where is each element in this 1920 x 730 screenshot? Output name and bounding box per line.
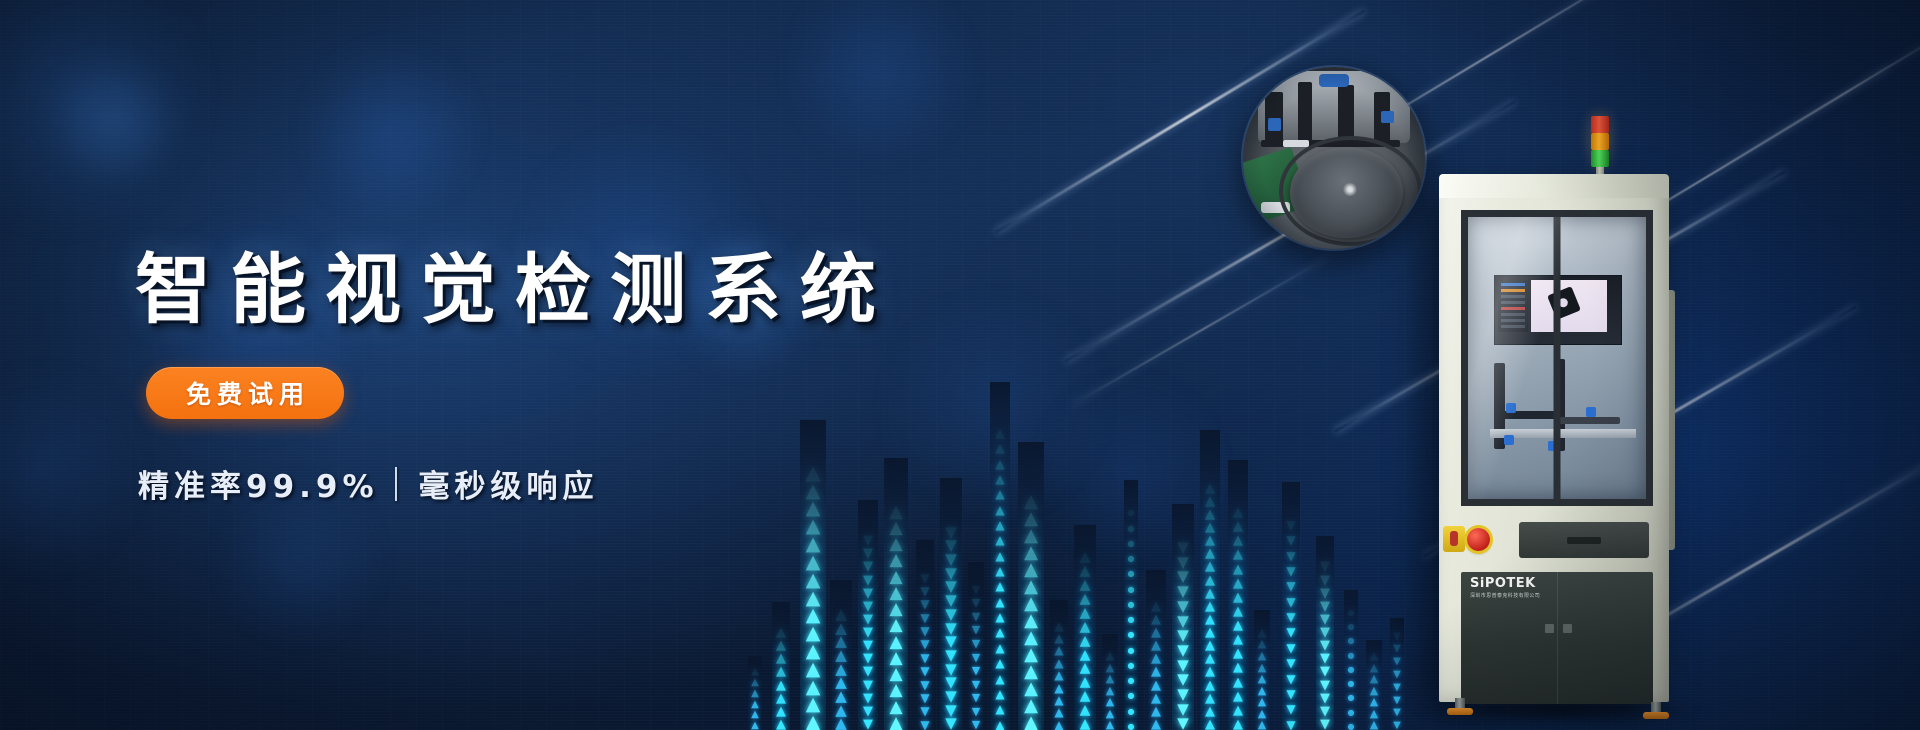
accuracy-stat: 精准率99.9%	[138, 461, 379, 506]
hero-content: 智能视觉检测系统 免费试用 精准率99.9% 毫秒级响应	[0, 0, 1920, 730]
subtitle-divider	[395, 467, 397, 501]
latency-stat: 毫秒级响应	[419, 461, 599, 506]
hero-banner: ▲▲▲▲▲▲▲▲▲▲▲▲▲▲▲▲▲▲▲▲▲▲▲▲▼▼▼▼▼▼▼▼▼▼▼▼▼▼▼▲…	[0, 0, 1920, 730]
page-title: 智能视觉检测系统	[135, 228, 895, 338]
stats-subtitle: 精准率99.9% 毫秒级响应	[138, 461, 599, 506]
free-trial-button-label: 免费试用	[180, 375, 310, 411]
free-trial-button[interactable]: 免费试用	[146, 367, 344, 419]
